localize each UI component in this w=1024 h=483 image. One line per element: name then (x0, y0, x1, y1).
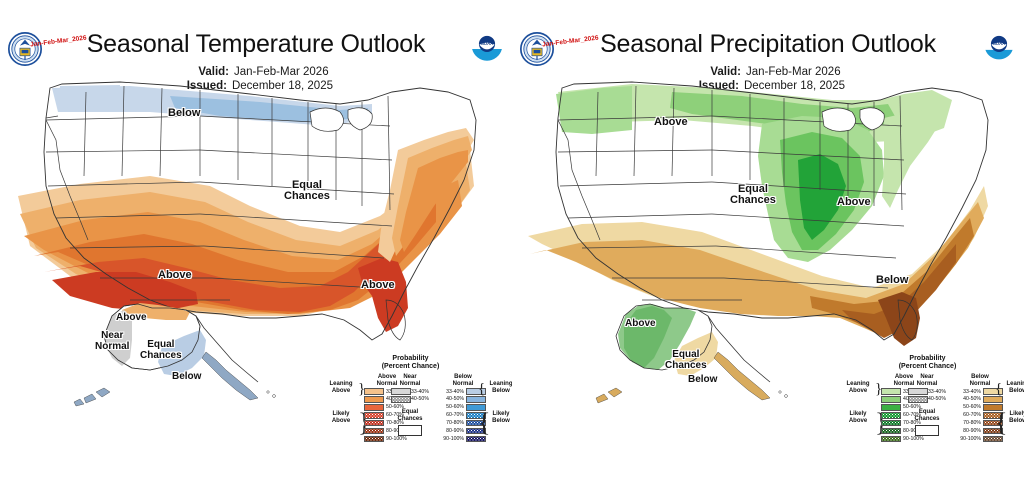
hawaii-inset (779, 391, 788, 398)
precipitation-legend: Probability (Percent Chance) LeaningAbov… (845, 355, 1010, 447)
legend-bracket-likely-below: LikelyBelow (1001, 411, 1024, 425)
legend-swatch (364, 388, 384, 395)
legend-column-near-normal: Near Normal 33-40%40-50% Equal Chances (390, 374, 430, 436)
conus-temperature-shading (18, 85, 474, 332)
legend-swatch (364, 404, 384, 411)
legend-equal-chances-label: Equal Chances (390, 409, 430, 423)
legend-bracket-leaning-above: LeaningAbove (324, 381, 358, 395)
legend-swatch-percent: 33-40% (446, 389, 464, 395)
legend-bracket-likely-above-text: LikelyAbove (332, 411, 350, 424)
legend-title-line1: Probability (909, 355, 945, 362)
legend-swatch (466, 396, 486, 403)
legend-bracket-leaning-below-text: LeaningBelow (489, 381, 512, 394)
legend-swatch (908, 388, 928, 395)
legend-swatch-percent: 33-40% (963, 389, 981, 395)
hawaii-inset (267, 391, 276, 398)
legend-bracket-likely-above: LikelyAbove (324, 411, 358, 425)
legend-swatch (881, 428, 901, 435)
legend-swatch-percent: 33-40% (928, 389, 946, 395)
legend-head-near: Near Normal (390, 374, 430, 388)
legend-swatch-percent: 40-50% (446, 396, 464, 402)
legend-swatches-near: 33-40%40-50% (907, 388, 947, 403)
legend-swatch-percent: 60-70% (446, 412, 464, 418)
legend-bracket-leaning-below-text: LeaningBelow (1006, 381, 1024, 394)
legend-bracket-likely-below-text: LikelyBelow (1009, 411, 1024, 424)
legend-swatch (364, 412, 384, 419)
legend-swatch-row: 40-50% (390, 396, 430, 403)
legend-swatch-percent: 80-90% (446, 428, 464, 434)
legend-swatch-percent: 50-60% (963, 404, 981, 410)
legend-title-line1: Probability (392, 355, 428, 362)
legend-swatch-percent: 90-100% (443, 436, 464, 442)
legend-swatch-percent: 80-90% (963, 428, 981, 434)
precipitation-panel: Jan-Feb-Mar_2026 NOAA Seasonal Precipita… (512, 0, 1024, 483)
alaska-inset-precipitation (596, 304, 770, 403)
legend-swatch-row: 40-50% (907, 396, 947, 403)
legend-title: Probability (Percent Chance) (328, 355, 493, 371)
legend-bracket-likely-above: LikelyAbove (841, 411, 875, 425)
legend-bracket-leaning-above-text: LeaningAbove (329, 381, 352, 394)
legend-swatch (881, 412, 901, 419)
legend-swatch (881, 404, 901, 411)
legend-swatch (881, 420, 901, 427)
legend-title-line2: (Percent Chance) (899, 363, 957, 370)
legend-swatch-percent: 70-80% (446, 420, 464, 426)
legend-swatch (364, 436, 384, 443)
legend-bracket-likely-below-text: LikelyBelow (492, 411, 510, 424)
alaska-inset-temperature (74, 303, 258, 406)
legend-swatch-row: 90-100% (364, 435, 410, 442)
legend-swatch-percent: 40-50% (963, 396, 981, 402)
legend-head-near: Near Normal (907, 374, 947, 388)
legend-bracket-leaning-below: LeaningBelow (1001, 381, 1024, 395)
legend-equal-chances-swatch (915, 425, 939, 436)
legend-bracket-likely-above-text: LikelyAbove (849, 411, 867, 424)
legend-bracket-leaning-above-text: LeaningAbove (846, 381, 869, 394)
legend-title-line2: (Percent Chance) (382, 363, 440, 370)
legend-bracket-leaning-above: LeaningAbove (841, 381, 875, 395)
legend-swatch-percent: 40-50% (928, 396, 946, 402)
legend-swatch (908, 396, 928, 403)
legend-swatch (364, 428, 384, 435)
legend-swatch (391, 388, 411, 395)
temperature-panel: Jan-Feb-Mar_2026 NOAA Seasonal Temperatu… (0, 0, 512, 483)
legend-swatch (881, 396, 901, 403)
legend-swatch-row: 33-40% (390, 388, 430, 395)
legend-title: Probability (Percent Chance) (845, 355, 1010, 371)
legend-swatch (881, 436, 901, 443)
legend-swatch-percent: 33-40% (411, 389, 429, 395)
legend-swatch-percent: 40-50% (411, 396, 429, 402)
legend-swatch (364, 396, 384, 403)
legend-swatch-percent: 70-80% (963, 420, 981, 426)
legend-swatch-percent: 90-100% (386, 436, 407, 442)
legend-swatch (983, 396, 1003, 403)
legend-equal-chances-swatch (398, 425, 422, 436)
legend-swatch (364, 420, 384, 427)
legend-equal-chances-label: Equal Chances (907, 409, 947, 423)
legend-swatch (391, 396, 411, 403)
legend-swatch-percent: 50-60% (446, 404, 464, 410)
legend-swatch-row: 33-40% (907, 388, 947, 395)
legend-swatch-percent: 90-100% (903, 436, 924, 442)
legend-swatch-row: 90-100% (881, 435, 927, 442)
seasonal-outlook-page: Jan-Feb-Mar_2026 NOAA Seasonal Temperatu… (0, 0, 1024, 483)
legend-swatches-near: 33-40%40-50% (390, 388, 430, 403)
legend-swatch-percent: 90-100% (960, 436, 981, 442)
temperature-legend: Probability (Percent Chance) LeaningAbov… (328, 355, 493, 447)
legend-swatch (881, 388, 901, 395)
legend-column-near-normal: Near Normal 33-40%40-50% Equal Chances (907, 374, 947, 436)
legend-swatch-percent: 60-70% (963, 412, 981, 418)
